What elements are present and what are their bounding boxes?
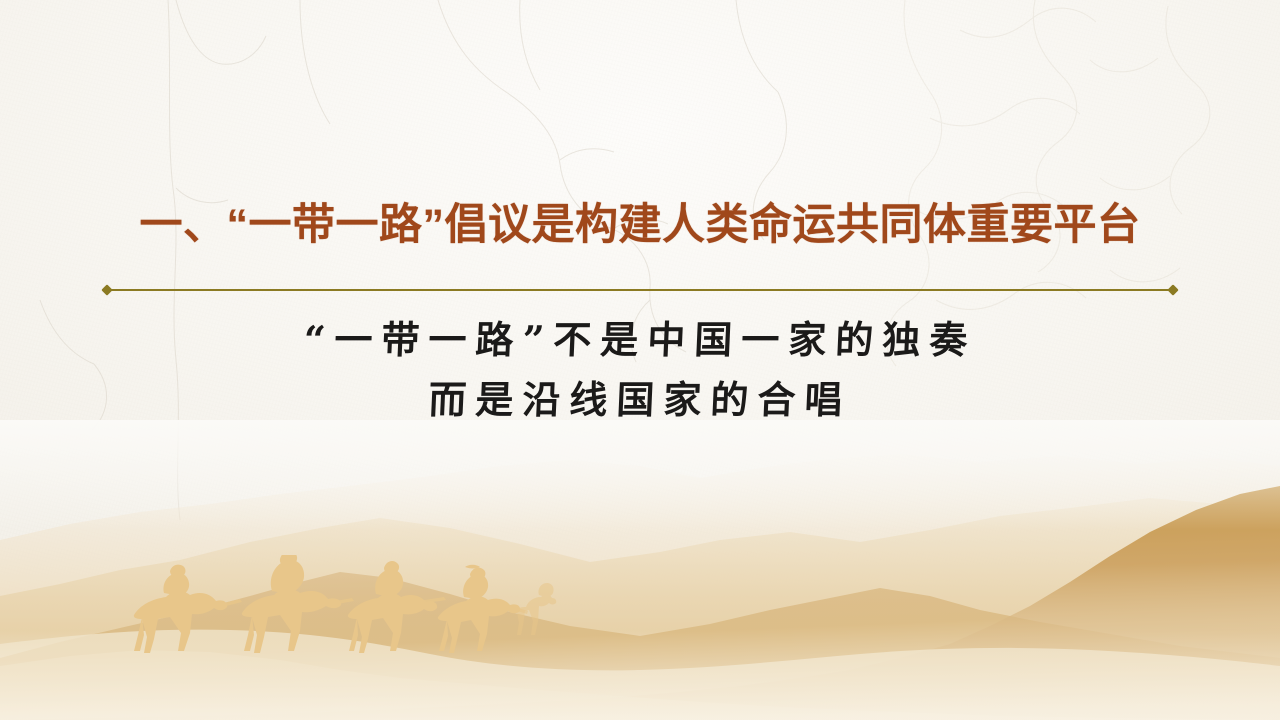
- diamond-icon-right: [1167, 284, 1178, 295]
- camel-caravan-silhouette: [120, 555, 580, 665]
- title-divider: [103, 285, 1177, 295]
- subtitle-line-2: 而是沿线国家的合唱: [0, 370, 1280, 430]
- page-title: 一、“一带一路”倡议是构建人类命运共同体重要平台: [0, 196, 1280, 254]
- subtitle-line-1: “一带一路”不是中国一家的独奏: [0, 310, 1280, 370]
- subtitle-block: “一带一路”不是中国一家的独奏 而是沿线国家的合唱: [0, 310, 1280, 430]
- divider-rule: [109, 289, 1171, 291]
- presentation-slide: 一、“一带一路”倡议是构建人类命运共同体重要平台 “一带一路”不是中国一家的独奏…: [0, 0, 1280, 720]
- title-block: 一、“一带一路”倡议是构建人类命运共同体重要平台: [0, 196, 1280, 254]
